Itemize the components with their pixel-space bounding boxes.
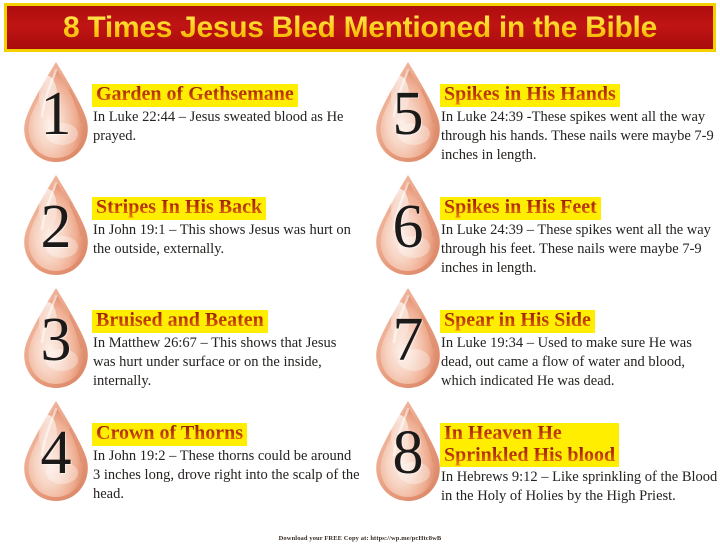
entry-body: In John 19:1 – This shows Jesus was hurt… (93, 221, 360, 259)
blood-drop-icon: 5 (366, 60, 450, 168)
entry-heading-line: Spikes in His Hands (444, 84, 616, 106)
entry-number: 4 (14, 422, 98, 484)
entry-row-1: 1 Garden of Gethsemane In Luke 22:44 – J… (0, 58, 360, 171)
entry-text-block: Spear in His Side In Luke 19:34 – Used t… (440, 284, 720, 391)
entry-heading: Stripes In His Back (92, 197, 266, 220)
entry-text-block: Spikes in His Hands In Luke 24:39 -These… (440, 58, 720, 165)
infographic-poster: 8 Times Jesus Bled Mentioned in the Bibl… (0, 0, 720, 548)
entry-row-3: 3 Bruised and Beaten In Matthew 26:67 – … (0, 284, 360, 397)
entry-heading-line: Sprinkled His blood (444, 445, 615, 467)
entry-row-2: 2 Stripes In His Back In John 19:1 – Thi… (0, 171, 360, 284)
entry-number: 7 (366, 309, 450, 371)
entry-row-6: 6 Spikes in His Feet In Luke 24:39 – The… (360, 171, 720, 284)
entry-heading-line: Bruised and Beaten (96, 310, 264, 332)
entry-heading-line: Stripes In His Back (96, 197, 262, 219)
entry-number: 8 (366, 422, 450, 484)
entry-body: In Luke 19:34 – Used to make sure He was… (441, 334, 720, 391)
entry-body: In Luke 22:44 – Jesus sweated blood as H… (93, 108, 360, 146)
page-title: 8 Times Jesus Bled Mentioned in the Bibl… (59, 13, 661, 43)
entry-text-block: Garden of Gethsemane In Luke 22:44 – Jes… (92, 58, 360, 146)
entry-row-8: 8 In Heaven HeSprinkled His blood In Heb… (360, 397, 720, 510)
blood-drop-icon: 6 (366, 173, 450, 281)
entry-row-7: 7 Spear in His Side In Luke 19:34 – Used… (360, 284, 720, 397)
entries-column-right: 5 Spikes in His Hands In Luke 24:39 -The… (360, 58, 720, 528)
entry-text-block: In Heaven HeSprinkled His blood In Hebre… (440, 397, 720, 506)
blood-drop-icon: 7 (366, 286, 450, 394)
entries-columns: 1 Garden of Gethsemane In Luke 22:44 – J… (0, 58, 720, 528)
entry-heading: Bruised and Beaten (92, 310, 268, 333)
entry-heading-line: Spikes in His Feet (444, 197, 597, 219)
entry-text-block: Bruised and Beaten In Matthew 26:67 – Th… (92, 284, 360, 391)
blood-drop-icon: 2 (14, 173, 98, 281)
entry-body: In Matthew 26:67 – This shows that Jesus… (93, 334, 360, 391)
entry-heading: Spear in His Side (440, 310, 595, 333)
entry-row-4: 4 Crown of Thorns In John 19:2 – These t… (0, 397, 360, 510)
entry-body: In Hebrews 9:12 – Like sprinkling of the… (441, 468, 720, 506)
footer-download-link[interactable]: Download your FREE Copy at: https://wp.m… (0, 535, 720, 542)
entry-body: In Luke 24:39 – These spikes went all th… (441, 221, 720, 278)
entry-number: 3 (14, 309, 98, 371)
entry-body: In John 19:2 – These thorns could be aro… (93, 447, 360, 504)
entry-heading-line: In Heaven He (444, 423, 615, 445)
entry-row-5: 5 Spikes in His Hands In Luke 24:39 -The… (360, 58, 720, 171)
entry-text-block: Stripes In His Back In John 19:1 – This … (92, 171, 360, 259)
entry-number: 1 (14, 83, 98, 145)
title-banner: 8 Times Jesus Bled Mentioned in the Bibl… (4, 3, 716, 52)
entry-heading-line: Garden of Gethsemane (96, 84, 294, 106)
entry-body: In Luke 24:39 -These spikes went all the… (441, 108, 720, 165)
entry-heading: Garden of Gethsemane (92, 84, 298, 107)
blood-drop-icon: 8 (366, 399, 450, 507)
entry-heading-line: Crown of Thorns (96, 423, 243, 445)
blood-drop-icon: 1 (14, 60, 98, 168)
entry-number: 5 (366, 83, 450, 145)
blood-drop-icon: 4 (14, 399, 98, 507)
entry-number: 6 (366, 196, 450, 258)
entry-heading: In Heaven HeSprinkled His blood (440, 423, 619, 467)
entry-heading: Spikes in His Feet (440, 197, 601, 220)
entry-text-block: Spikes in His Feet In Luke 24:39 – These… (440, 171, 720, 278)
title-banner-inner: 8 Times Jesus Bled Mentioned in the Bibl… (7, 6, 713, 49)
entry-heading: Spikes in His Hands (440, 84, 620, 107)
entries-column-left: 1 Garden of Gethsemane In Luke 22:44 – J… (0, 58, 360, 528)
entry-text-block: Crown of Thorns In John 19:2 – These tho… (92, 397, 360, 504)
entry-number: 2 (14, 196, 98, 258)
entry-heading: Crown of Thorns (92, 423, 247, 446)
blood-drop-icon: 3 (14, 286, 98, 394)
entry-heading-line: Spear in His Side (444, 310, 591, 332)
